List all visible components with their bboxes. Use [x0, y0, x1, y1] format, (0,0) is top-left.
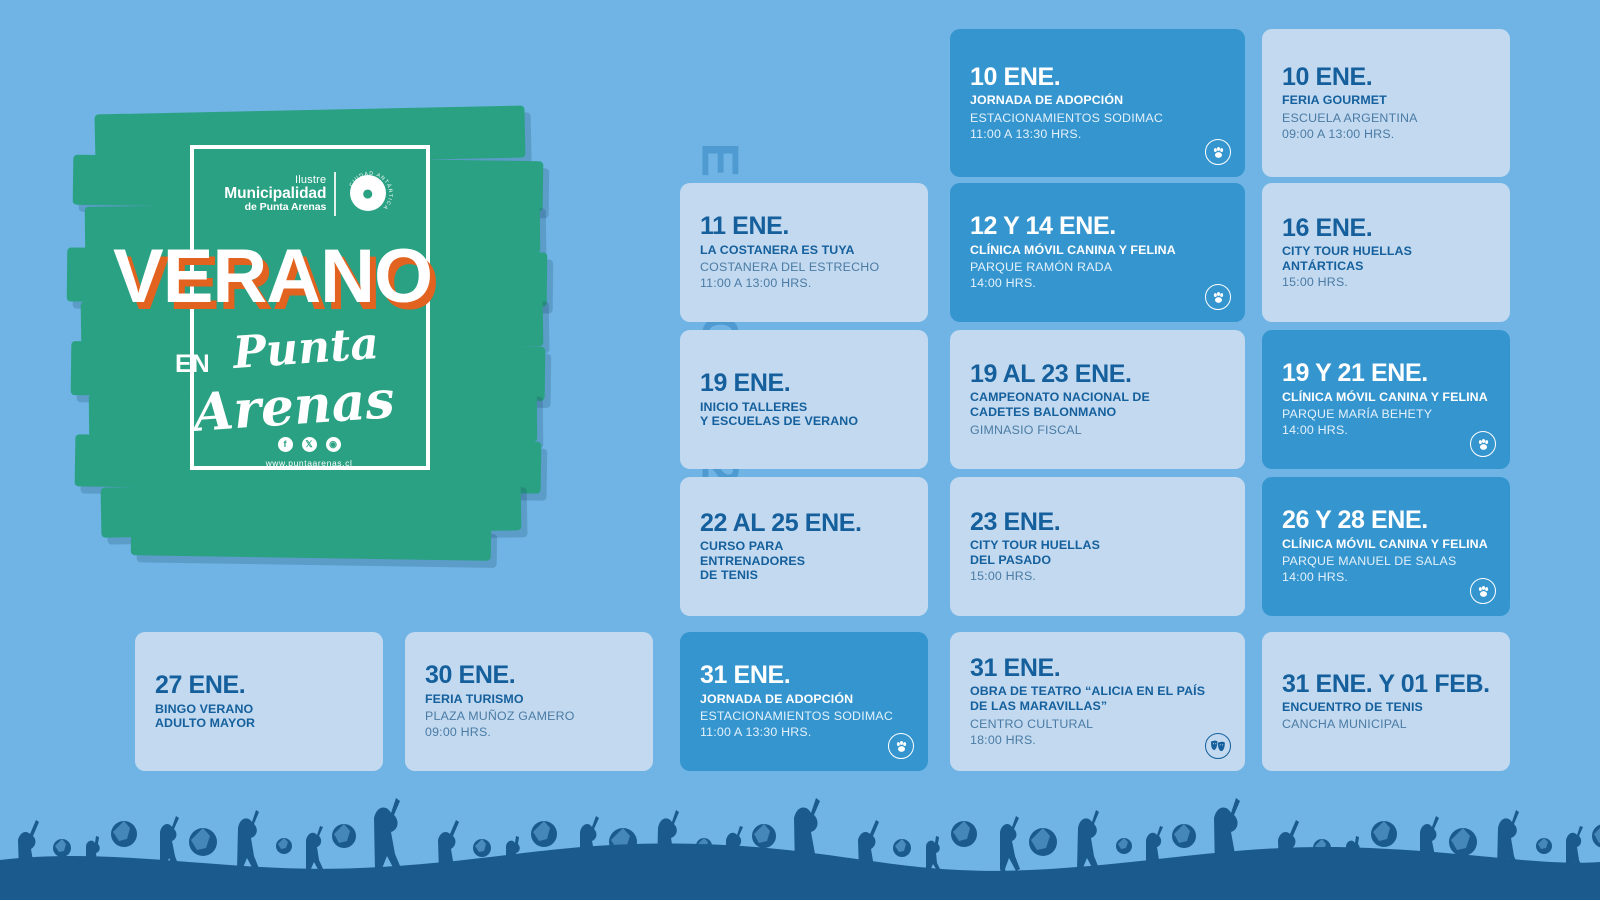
event-card-jornada-adopcion-10-ene[interactable]: 10 ENE.JORNADA DE ADOPCIÓNESTACIONAMIENT… — [950, 29, 1245, 177]
event-title: FERIA TURISMO — [425, 692, 633, 707]
event-venue: ESCUELA ARGENTINA — [1282, 110, 1490, 126]
facebook-icon[interactable]: f — [278, 437, 293, 452]
event-card-city-tour-antarticas-16-ene[interactable]: 16 ENE.CITY TOUR HUELLASANTÁRTICAS15:00 … — [1262, 183, 1510, 322]
event-venue: PARQUE MARÍA BEHETY — [1282, 406, 1490, 422]
paw-icon — [1205, 284, 1231, 310]
social-links[interactable]: f 𝕏 ◉ — [244, 437, 374, 452]
event-time: 14:00 HRS. — [1282, 569, 1490, 585]
event-date: 30 ENE. — [425, 662, 633, 688]
municipality-logo: Ilustre Municipalidad de Punta Arenas CI… — [205, 168, 415, 220]
event-date: 16 ENE. — [1282, 215, 1490, 241]
paw-icon — [1211, 290, 1226, 305]
event-time: 15:00 HRS. — [970, 568, 1225, 584]
paw-icon — [1476, 584, 1491, 599]
event-date: 22 AL 25 ENE. — [700, 510, 908, 536]
event-title: CITY TOUR HUELLASDEL PASADO — [970, 538, 1225, 567]
brand-logo-block: Ilustre Municipalidad de Punta Arenas CI… — [55, 100, 575, 555]
event-date: 10 ENE. — [1282, 64, 1490, 90]
event-card-city-tour-pasado-23-ene[interactable]: 23 ENE.CITY TOUR HUELLASDEL PASADO15:00 … — [950, 477, 1245, 616]
event-date: 23 ENE. — [970, 509, 1225, 535]
event-venue: ESTACIONAMIENTOS SODIMAC — [700, 708, 908, 724]
event-venue: PARQUE MANUEL DE SALAS — [1282, 553, 1490, 569]
event-date: 27 ENE. — [155, 672, 363, 698]
theater-masks-icon — [1210, 739, 1226, 753]
muni-line-3: de Punta Arenas — [224, 202, 326, 213]
event-title: CLÍNICA MÓVIL CANINA Y FELINA — [1282, 390, 1490, 405]
event-title: INICIO TALLERESY ESCUELAS DE VERANO — [700, 400, 908, 429]
verano-headline: VERANO VERANO — [113, 243, 513, 333]
poster-canvas: Ilustre Municipalidad de Punta Arenas CI… — [0, 0, 1600, 900]
event-venue: CANCHA MUNICIPAL — [1282, 716, 1490, 732]
instagram-icon[interactable]: ◉ — [326, 437, 341, 452]
event-time: 09:00 A 13:00 HRS. — [1282, 126, 1490, 142]
event-card-inicio-talleres-19-ene[interactable]: 19 ENE.INICIO TALLERESY ESCUELAS DE VERA… — [680, 330, 928, 469]
paw-icon — [888, 733, 914, 759]
event-time: 14:00 HRS. — [1282, 422, 1490, 438]
event-time: 09:00 HRS. — [425, 724, 633, 740]
event-title: JORNADA DE ADOPCIÓN — [970, 93, 1225, 108]
event-time: 11:00 A 13:00 HRS. — [700, 275, 908, 291]
event-title: JORNADA DE ADOPCIÓN — [700, 692, 908, 707]
x-twitter-icon[interactable]: 𝕏 — [302, 437, 317, 452]
event-title: BINGO VERANOADULTO MAYOR — [155, 702, 363, 731]
event-time: 11:00 A 13:30 HRS. — [970, 126, 1225, 142]
event-card-feria-gourmet-10-ene[interactable]: 10 ENE.FERIA GOURMETESCUELA ARGENTINA09:… — [1262, 29, 1510, 177]
ciudad-antartica-seal-icon: CIUDAD ANTÁRTICA ● — [344, 168, 396, 220]
event-venue: GIMNASIO FISCAL — [970, 422, 1225, 438]
event-date: 19 AL 23 ENE. — [970, 361, 1225, 387]
event-date: 12 Y 14 ENE. — [970, 213, 1225, 239]
event-title: CITY TOUR HUELLASANTÁRTICAS — [1282, 244, 1490, 273]
event-date: 11 ENE. — [700, 213, 908, 239]
event-date: 19 ENE. — [700, 370, 908, 396]
event-venue: ESTACIONAMIENTOS SODIMAC — [970, 110, 1225, 126]
logo-divider — [334, 172, 335, 216]
event-time: 11:00 A 13:30 HRS. — [700, 724, 908, 740]
event-card-jornada-adopcion-31-ene[interactable]: 31 ENE.JORNADA DE ADOPCIÓNESTACIONAMIENT… — [680, 632, 928, 771]
paw-icon — [1205, 139, 1231, 165]
verano-text: VERANO — [113, 243, 432, 311]
website-url[interactable]: www.puntaarenas.cl — [234, 458, 384, 468]
event-card-costanera-es-tuya-11-ene[interactable]: 11 ENE.LA COSTANERA ES TUYACOSTANERA DEL… — [680, 183, 928, 322]
en-word: EN — [175, 350, 210, 379]
event-card-curso-entrenadores-tenis-22-25-ene[interactable]: 22 AL 25 ENE.CURSO PARAENTRENADORESDE TE… — [680, 477, 928, 616]
event-time: 14:00 HRS. — [970, 275, 1225, 291]
event-card-obra-teatro-alicia-31-ene[interactable]: 31 ENE.OBRA DE TEATRO “ALICIA EN EL PAÍS… — [950, 632, 1245, 771]
event-card-campeonato-balonmano-19-23-ene[interactable]: 19 AL 23 ENE.CAMPEONATO NACIONAL DECADET… — [950, 330, 1245, 469]
event-title: CURSO PARAENTRENADORESDE TENIS — [700, 539, 908, 583]
event-date: 31 ENE. — [700, 662, 908, 688]
event-venue: PARQUE RAMÓN RADA — [970, 259, 1225, 275]
paw-icon — [1470, 578, 1496, 604]
paw-icon — [1476, 437, 1491, 452]
event-title: LA COSTANERA ES TUYA — [700, 243, 908, 258]
event-date: 31 ENE. — [970, 655, 1225, 681]
event-title: ENCUENTRO DE TENIS — [1282, 700, 1490, 715]
muni-line-2: Municipalidad — [224, 186, 326, 202]
script-arenas: Arenas — [192, 375, 397, 438]
event-date: 19 Y 21 ENE. — [1282, 360, 1490, 386]
event-date: 31 ENE. Y 01 FEB. — [1282, 671, 1490, 697]
event-date: 26 Y 28 ENE. — [1282, 507, 1490, 533]
event-title: CAMPEONATO NACIONAL DECADETES BALONMANO — [970, 390, 1225, 419]
event-card-encuentro-tenis-31-ene-01-feb[interactable]: 31 ENE. Y 01 FEB.ENCUENTRO DE TENISCANCH… — [1262, 632, 1510, 771]
event-card-bingo-verano-27-ene[interactable]: 27 ENE.BINGO VERANOADULTO MAYOR — [135, 632, 383, 771]
event-title: OBRA DE TEATRO “ALICIA EN EL PAÍSDE LAS … — [970, 684, 1225, 713]
event-card-clinica-movil-19-21-ene[interactable]: 19 Y 21 ENE.CLÍNICA MÓVIL CANINA Y FELIN… — [1262, 330, 1510, 469]
paw-icon — [1470, 431, 1496, 457]
event-title: CLÍNICA MÓVIL CANINA Y FELINA — [970, 243, 1225, 258]
theater-masks-icon — [1205, 733, 1231, 759]
event-time: 15:00 HRS. — [1282, 274, 1490, 290]
event-date: 10 ENE. — [970, 64, 1225, 90]
event-time: 18:00 HRS. — [970, 732, 1225, 748]
paw-icon — [894, 739, 909, 754]
event-title: FERIA GOURMET — [1282, 93, 1490, 108]
paw-icon — [1211, 145, 1226, 160]
event-venue: COSTANERA DEL ESTRECHO — [700, 259, 908, 275]
children-silhouette-band — [0, 770, 1600, 900]
event-title: CLÍNICA MÓVIL CANINA Y FELINA — [1282, 537, 1490, 552]
event-card-feria-turismo-30-ene[interactable]: 30 ENE.FERIA TURISMOPLAZA MUÑOZ GAMERO09… — [405, 632, 653, 771]
event-card-clinica-movil-12-14-ene[interactable]: 12 Y 14 ENE.CLÍNICA MÓVIL CANINA Y FELIN… — [950, 183, 1245, 322]
script-punta: Punta — [232, 323, 380, 375]
event-venue: PLAZA MUÑOZ GAMERO — [425, 708, 633, 724]
event-venue: CENTRO CULTURAL — [970, 716, 1225, 732]
event-card-clinica-movil-26-28-ene[interactable]: 26 Y 28 ENE.CLÍNICA MÓVIL CANINA Y FELIN… — [1262, 477, 1510, 616]
